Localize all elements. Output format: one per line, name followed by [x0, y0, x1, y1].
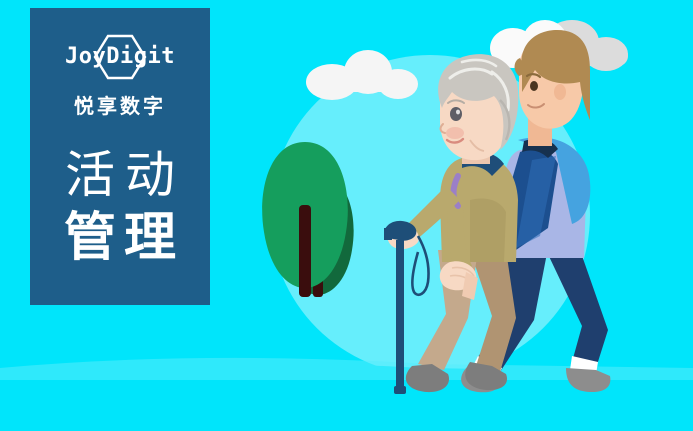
page-title-line1: 活动 [30, 145, 210, 205]
woman-sweater-shade [470, 199, 506, 263]
woman-eye-glint [456, 110, 460, 115]
cane-handle-end [384, 228, 392, 240]
man-eye [530, 81, 538, 91]
page-title: 活动 管理 [30, 145, 210, 269]
woman-blush [446, 127, 464, 139]
man-ear [554, 84, 566, 100]
poster-canvas: JoyDigit 悦享数字 活动 管理 [0, 0, 693, 431]
brand-logo: JoyDigit [45, 34, 195, 80]
brand-latin-text: JoyDigit [45, 42, 195, 72]
cane-tip [394, 386, 406, 394]
info-panel: JoyDigit 悦享数字 活动 管理 [30, 8, 210, 305]
brand-chinese-text: 悦享数字 [74, 90, 166, 119]
woman-eye [450, 107, 462, 121]
page-title-line2: 管理 [30, 207, 210, 269]
cane-shaft [396, 240, 404, 390]
